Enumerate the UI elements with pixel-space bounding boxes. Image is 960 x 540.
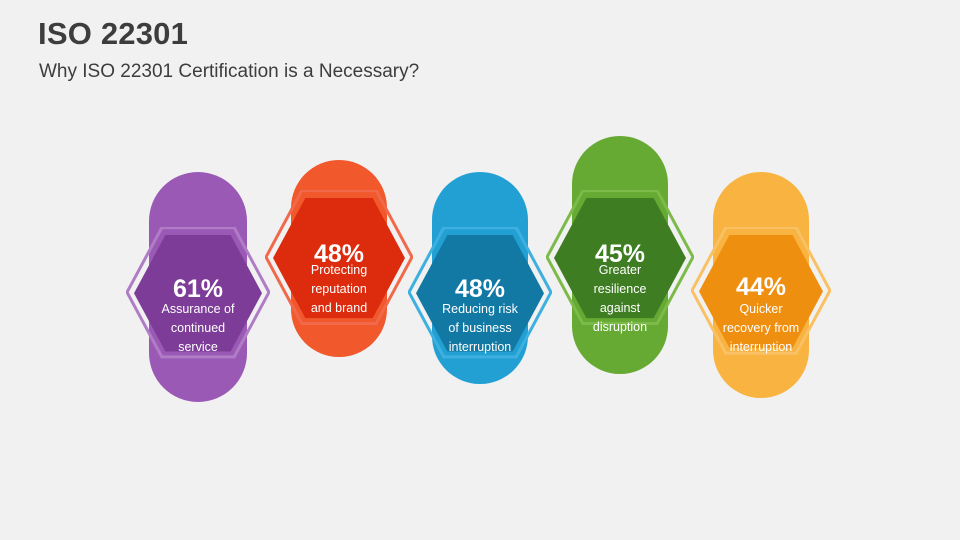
slide: ISO 22301 Why ISO 22301 Certification is… bbox=[0, 0, 960, 540]
chart-category-line: reputation bbox=[284, 280, 394, 299]
chart-category-line: continued bbox=[143, 319, 253, 338]
chart-category-line: Protecting bbox=[284, 261, 394, 280]
chart-category-line: interruption bbox=[706, 338, 816, 357]
chart-category-label: Assurance ofcontinuedservice bbox=[143, 300, 253, 357]
chart-category-line: of business bbox=[425, 319, 535, 338]
chart-category-label: Reducing riskof businessinterruption bbox=[425, 300, 535, 357]
chart-category-label: Quickerrecovery frominterruption bbox=[706, 300, 816, 357]
chart-category-line: recovery from bbox=[706, 319, 816, 338]
chart-category-line: resilience bbox=[565, 280, 675, 299]
chart-category-line: disruption bbox=[565, 318, 675, 337]
chart-category-label: Greaterresilienceagainstdisruption bbox=[565, 261, 675, 337]
page-title: ISO 22301 bbox=[38, 16, 188, 52]
infographic-chart: 61%Assurance ofcontinuedservice48%Protec… bbox=[0, 120, 960, 420]
page-subtitle: Why ISO 22301 Certification is a Necessa… bbox=[39, 61, 419, 83]
chart-category-label: Protectingreputationand brand bbox=[284, 261, 394, 318]
chart-category-line: against bbox=[565, 299, 675, 318]
chart-category-line: Assurance of bbox=[143, 300, 253, 319]
chart-category-line: Greater bbox=[565, 261, 675, 280]
chart-category-line: interruption bbox=[425, 338, 535, 357]
chart-category-line: service bbox=[143, 338, 253, 357]
chart-category-line: and brand bbox=[284, 299, 394, 318]
chart-category-line: Reducing risk bbox=[425, 300, 535, 319]
chart-category-line: Quicker bbox=[706, 300, 816, 319]
chart-value-label: 44% bbox=[706, 273, 816, 302]
